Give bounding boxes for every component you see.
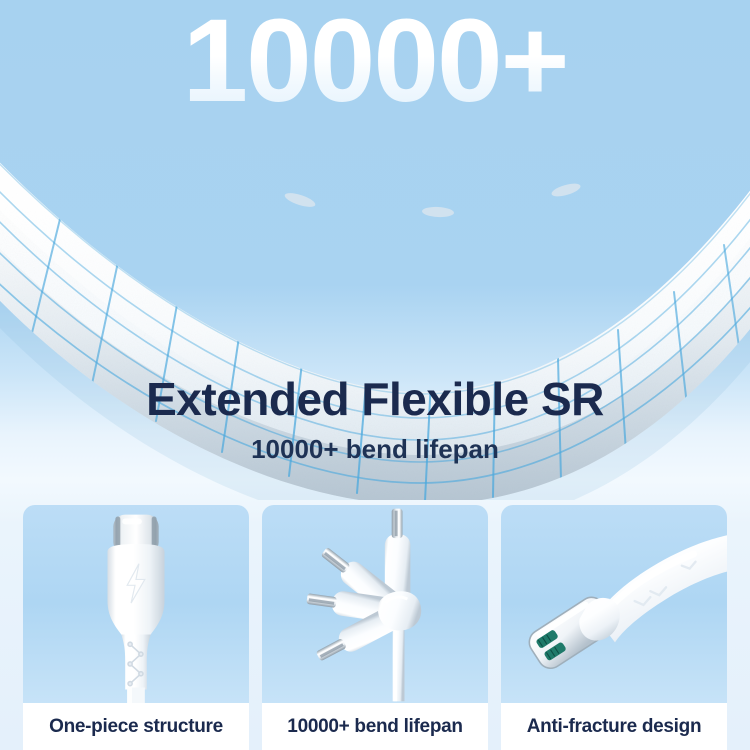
feature-card-caption: 10000+ bend lifepan [262, 703, 488, 750]
feature-card-anti-fracture-design[interactable]: Anti-fracture design [501, 505, 727, 750]
title-block: Extended Flexible SR 10000+ bend lifepan [0, 372, 750, 465]
feature-card-bend-lifepan[interactable]: 10000+ bend lifepan [262, 505, 488, 750]
feature-card-one-piece-structure[interactable]: One-piece structure [23, 505, 249, 750]
cable-bend-sequence-icon [262, 505, 488, 703]
feature-card-caption: One-piece structure [23, 703, 249, 750]
page-subtitle: 10000+ bend lifepan [0, 434, 750, 465]
usb-c-connector-upright-icon [23, 505, 249, 703]
page-title: Extended Flexible SR [0, 372, 750, 426]
product-feature-page: 10000+ [0, 0, 750, 750]
usb-c-connector-angled-icon [501, 505, 727, 703]
feature-card-list: One-piece structure [23, 505, 727, 750]
feature-card-caption: Anti-fracture design [501, 703, 727, 750]
